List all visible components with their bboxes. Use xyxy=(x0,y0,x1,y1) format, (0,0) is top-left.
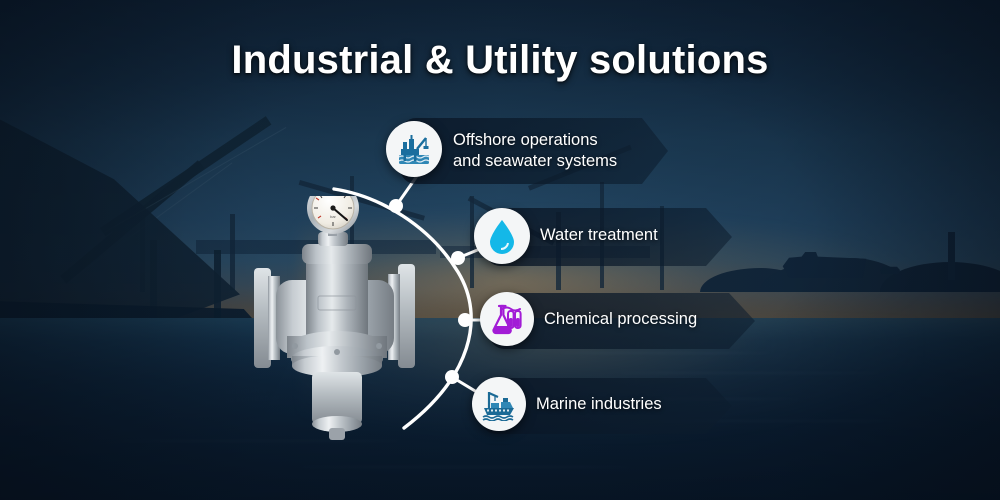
solution-item-chemical-processing[interactable]: Chemical processing xyxy=(480,293,755,349)
icon-wave xyxy=(483,419,513,421)
solution-label: Chemical processing xyxy=(544,309,697,330)
icon-cargo-container xyxy=(491,403,499,408)
solution-label: Marine industries xyxy=(536,394,662,415)
connector-node-marine xyxy=(445,370,459,384)
connector-node-offshore xyxy=(389,199,403,213)
icon-ship-superstructure xyxy=(501,402,513,408)
connector-node-chemical xyxy=(458,313,472,327)
icon-crane-jib xyxy=(489,393,498,397)
icon-platform-deck xyxy=(401,149,419,155)
solution-label: Water treatment xyxy=(540,225,658,246)
water-droplet-icon xyxy=(474,208,530,264)
icon-tube-connector xyxy=(502,308,520,311)
infographic-banner: MERIDIAN-S50 ROTTERDAM Industrial & Util… xyxy=(0,0,1000,500)
solution-item-water-treatment[interactable]: Water treatment xyxy=(474,208,732,266)
offshore-platform-icon xyxy=(386,121,442,177)
chemical-flask-icon xyxy=(480,292,534,346)
solution-item-offshore-operations[interactable]: Offshore operations and seawater systems xyxy=(386,118,668,184)
connector-arc xyxy=(334,189,471,428)
icon-wave xyxy=(483,416,513,418)
connector-node-water xyxy=(451,251,465,265)
cargo-ship-icon xyxy=(472,377,526,431)
solution-item-marine-industries[interactable]: Marine industries xyxy=(472,378,732,434)
solution-label: Offshore operations and seawater systems xyxy=(453,130,617,172)
